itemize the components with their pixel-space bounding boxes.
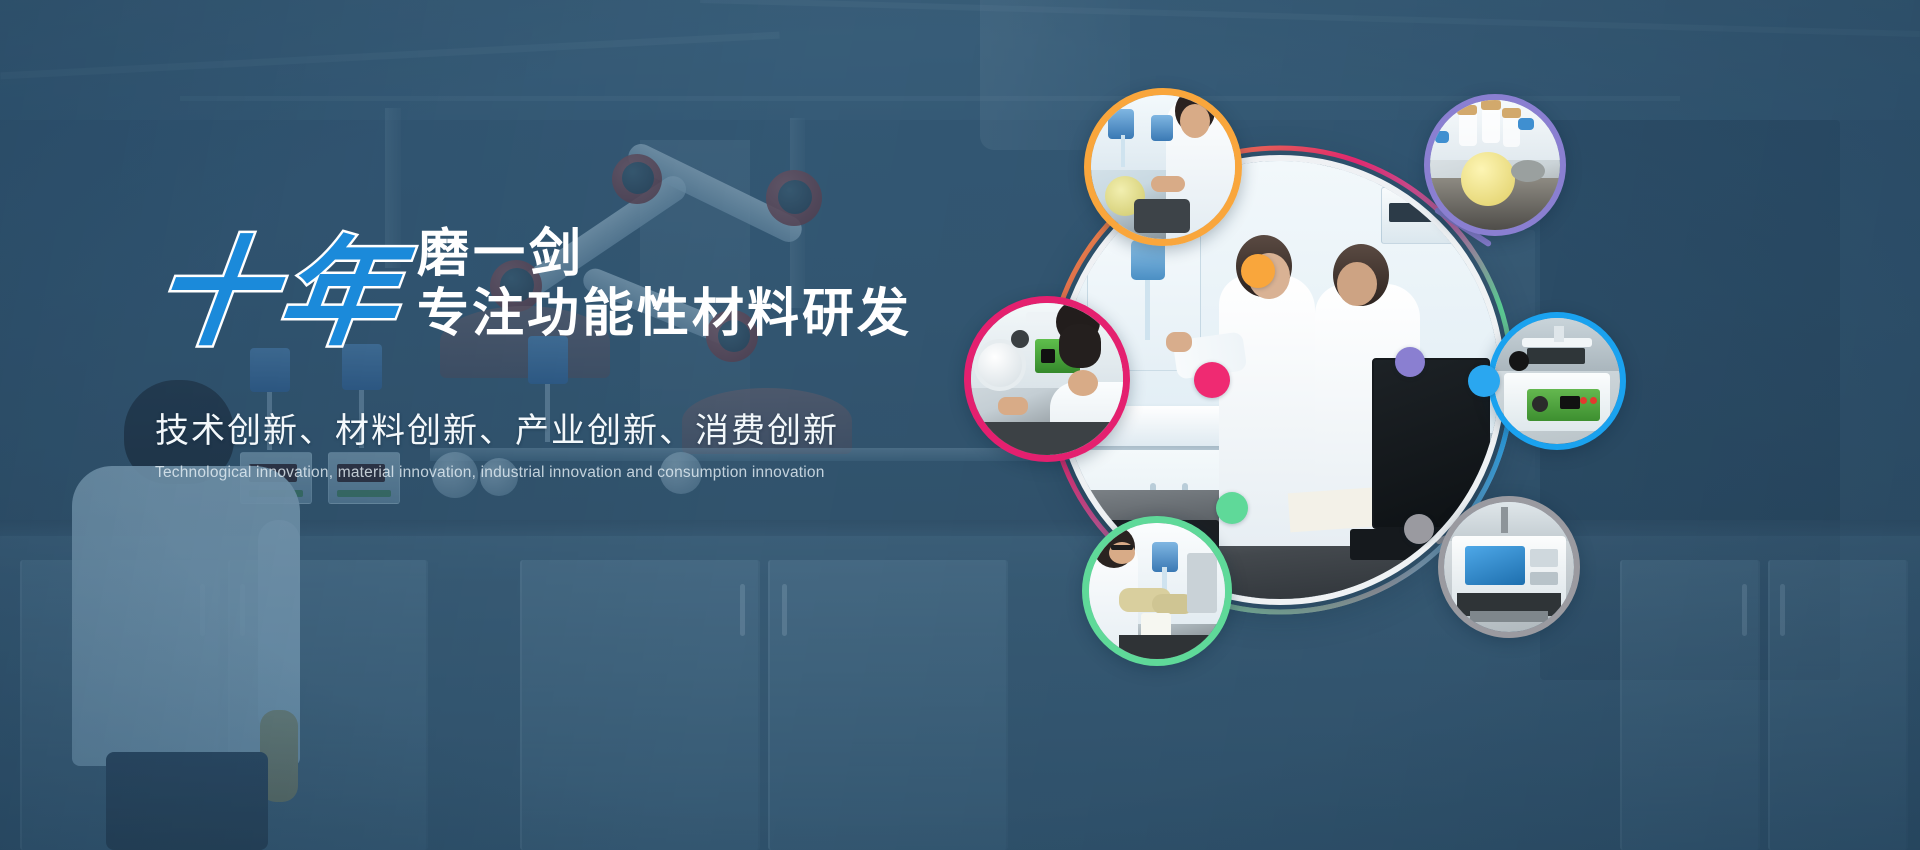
circle-composition bbox=[1000, 100, 1560, 660]
tagline-en: Technological innovation, material innov… bbox=[155, 464, 915, 482]
tagline-zh: 技术创新、材料创新、产业创新、消费创新 bbox=[155, 403, 915, 452]
satellite-top[interactable] bbox=[1084, 88, 1242, 246]
headline-row: 十年 磨一剑 专注功能性材料研发 bbox=[155, 225, 915, 349]
satellite-left[interactable] bbox=[964, 296, 1130, 462]
node-lower-right[interactable] bbox=[1404, 514, 1434, 544]
headline-accent-word: 十年 bbox=[148, 241, 409, 350]
satellite-bottom[interactable] bbox=[1082, 516, 1232, 666]
node-bottom[interactable] bbox=[1216, 492, 1248, 524]
hero-banner: 十年 磨一剑 专注功能性材料研发 技术创新、材料创新、产业创新、消费创新 Tec… bbox=[0, 0, 1920, 850]
node-left[interactable] bbox=[1194, 362, 1230, 398]
satellite-upper-right[interactable] bbox=[1424, 94, 1566, 236]
satellite-right[interactable] bbox=[1488, 312, 1626, 450]
node-upper-right[interactable] bbox=[1395, 347, 1425, 377]
node-top[interactable] bbox=[1241, 254, 1275, 288]
node-right[interactable] bbox=[1468, 365, 1500, 397]
satellite-lower-right[interactable] bbox=[1438, 496, 1580, 638]
headline-block: 十年 磨一剑 专注功能性材料研发 技术创新、材料创新、产业创新、消费创新 Tec… bbox=[155, 225, 915, 482]
headline-line-1: 磨一剑 bbox=[417, 225, 912, 283]
headline-line-2: 专注功能性材料研发 bbox=[417, 285, 912, 343]
